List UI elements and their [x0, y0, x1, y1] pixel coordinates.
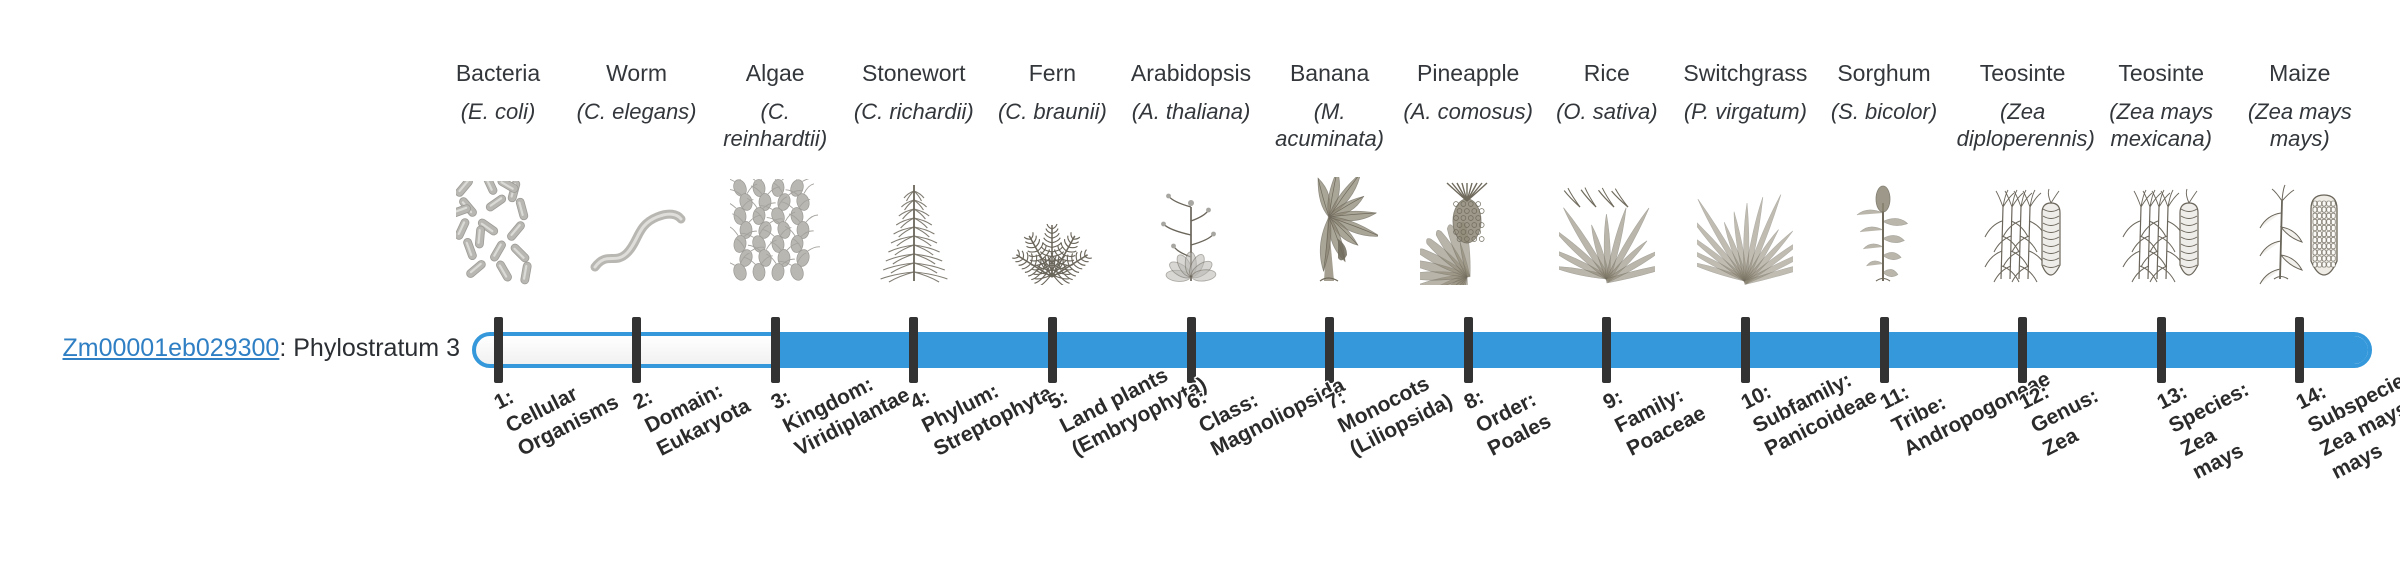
- species-column: Bacteria(E. coli): [432, 58, 564, 125]
- species-latin-name: (S. bicolor): [1818, 98, 1950, 125]
- species-latin-name: (Zea mays mays): [2234, 98, 2366, 152]
- species-column: Arabidopsis(A. thaliana): [1125, 58, 1257, 125]
- phylostratum-tick[interactable]: [1880, 317, 1889, 383]
- phylostratum-timeline: Zm00001eb029300: Phylostratum 3 Bacteria…: [0, 0, 2400, 580]
- phylostratum-tick[interactable]: [1602, 317, 1611, 383]
- species-latin-name: (E. coli): [432, 98, 564, 125]
- species-header-row: Bacteria(E. coli): [0, 0, 2400, 310]
- sorghum-plant-icon: [1824, 175, 1944, 285]
- species-latin-name: (P. virgatum): [1679, 98, 1811, 125]
- taxonomy-rank-label: 13:Species:Zeamays: [2153, 354, 2277, 486]
- species-latin-name: (C. elegans): [571, 98, 703, 125]
- species-common-name: Sorghum: [1818, 58, 1950, 88]
- species-common-name: Switchgrass: [1679, 58, 1811, 88]
- taxonomy-rank-label: 9:Family:Poaceae: [1599, 354, 1710, 462]
- pineapple-plant-icon: [1408, 175, 1528, 285]
- species-column: Pineapple(A. comosus): [1402, 58, 1534, 125]
- green-algae-cells-icon: [715, 175, 835, 285]
- species-common-name: Rice: [1541, 58, 1673, 88]
- species-latin-name: (A. thaliana): [1125, 98, 1257, 125]
- phylostratum-tick[interactable]: [2295, 317, 2304, 383]
- species-column: Fern(C. braunii): [986, 58, 1118, 125]
- phylostratum-tick[interactable]: [909, 317, 918, 383]
- species-common-name: Algae: [709, 58, 841, 88]
- species-column: Algae(C. reinhardtii): [709, 58, 841, 152]
- species-column: Teosinte(Zea mays mexicana): [2095, 58, 2227, 152]
- species-latin-name: (C. reinhardtii): [709, 98, 841, 152]
- fern-frond-icon: [992, 175, 1112, 285]
- phylostratum-tick[interactable]: [632, 317, 641, 383]
- species-common-name: Bacteria: [432, 58, 564, 88]
- species-column: Banana(M. acuminata): [1264, 58, 1396, 152]
- species-common-name: Maize: [2234, 58, 2366, 88]
- species-latin-name: (C. braunii): [986, 98, 1118, 125]
- phylostratum-value: Phylostratum 3: [293, 334, 460, 362]
- rice-plant-icon: [1547, 175, 1667, 285]
- maize-plant-ear-icon: [2240, 175, 2360, 285]
- species-common-name: Arabidopsis: [1125, 58, 1257, 88]
- species-common-name: Pineapple: [1402, 58, 1534, 88]
- gene-id-link[interactable]: Zm00001eb029300: [62, 334, 279, 362]
- species-latin-name: (Zea diploperennis): [1957, 98, 2089, 152]
- arabidopsis-rosette-icon: [1131, 175, 1251, 285]
- gene-label-separator: :: [279, 334, 293, 362]
- species-latin-name: (Zea mays mexicana): [2095, 98, 2227, 152]
- species-latin-name: (A. comosus): [1402, 98, 1534, 125]
- nematode-worm-icon: [577, 175, 697, 285]
- stonewort-alga-icon: [854, 175, 974, 285]
- species-common-name: Fern: [986, 58, 1118, 88]
- teosinte-plant-ear-icon: [1963, 175, 2083, 285]
- taxonomy-rank-label: 8:Order:Poales: [1460, 362, 1556, 462]
- species-column: Sorghum(S. bicolor): [1818, 58, 1950, 125]
- species-common-name: Stonewort: [848, 58, 980, 88]
- species-common-name: Teosinte: [1957, 58, 2089, 88]
- species-latin-name: (M. acuminata): [1264, 98, 1396, 152]
- bacteria-rods-icon: [438, 175, 558, 285]
- species-latin-name: (C. richardii): [848, 98, 980, 125]
- banana-plant-icon: [1270, 175, 1390, 285]
- phylostratum-tick[interactable]: [1464, 317, 1473, 383]
- species-latin-name: (O. sativa): [1541, 98, 1673, 125]
- species-common-name: Banana: [1264, 58, 1396, 88]
- teosinte-plant-ear-icon: [2101, 175, 2221, 285]
- species-column: Maize(Zea mays mays): [2234, 58, 2366, 152]
- switchgrass-plant-icon: [1685, 175, 1805, 285]
- phylostratum-tick[interactable]: [1048, 317, 1057, 383]
- species-common-name: Teosinte: [2095, 58, 2227, 88]
- species-column: Stonewort(C. richardii): [848, 58, 980, 125]
- species-column: Worm(C. elegans): [571, 58, 703, 125]
- species-column: Switchgrass(P. virgatum): [1679, 58, 1811, 125]
- species-common-name: Worm: [571, 58, 703, 88]
- phylostratum-tick[interactable]: [1741, 317, 1750, 383]
- phylostratum-tick[interactable]: [771, 317, 780, 383]
- species-column: Teosinte(Zea diploperennis): [1957, 58, 2089, 152]
- gene-phylostratum-label: Zm00001eb029300: Phylostratum 3: [40, 333, 460, 363]
- phylostratum-tick[interactable]: [2157, 317, 2166, 383]
- phylostratum-tick[interactable]: [494, 317, 503, 383]
- species-column: Rice(O. sativa): [1541, 58, 1673, 125]
